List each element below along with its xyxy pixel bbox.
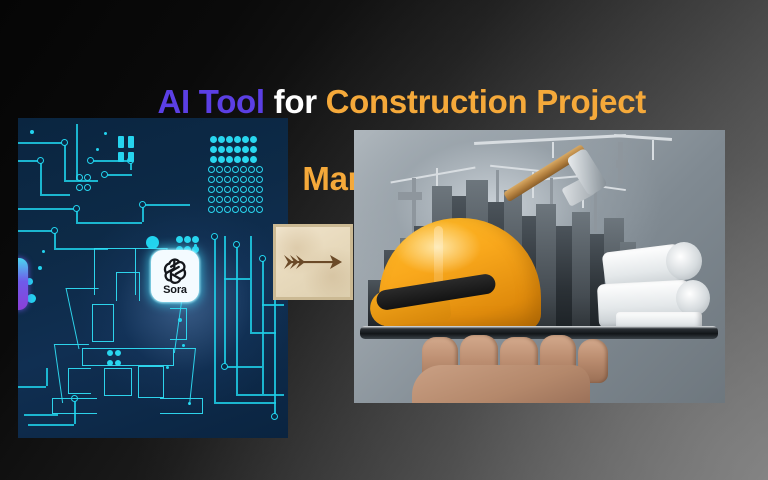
circuit-pad <box>51 227 58 234</box>
crane-cable <box>652 140 654 160</box>
arrow-right-icon <box>282 251 344 273</box>
circuit-trace <box>76 124 78 180</box>
palm <box>412 365 590 403</box>
circuit-pad <box>233 241 240 248</box>
circuit-trace <box>18 386 46 388</box>
arrow-transition-card <box>273 224 353 300</box>
circuit-trace <box>262 258 264 394</box>
poster-canvas: AI Tool for Construction Project Managem… <box>0 0 768 480</box>
crane-counter-jib <box>614 134 672 141</box>
circuit-trace <box>214 402 276 404</box>
title-ai-tool: AI Tool <box>158 83 265 120</box>
circuit-block <box>118 136 124 148</box>
crane-cabin <box>398 192 422 200</box>
circuit-trace <box>28 424 74 426</box>
circuit-trace <box>224 236 226 366</box>
sora-label: Sora <box>163 285 187 296</box>
circuit-block <box>128 136 134 148</box>
circuit-dot <box>38 266 42 270</box>
construction-tablet-image <box>354 130 725 403</box>
circuit-dot-matrix <box>76 174 89 191</box>
circuit-trace <box>214 236 216 402</box>
circuit-trace <box>18 230 54 232</box>
circuit-dot <box>42 250 45 253</box>
circuit-pad <box>211 233 218 240</box>
circuit-pad <box>271 413 278 420</box>
circuit-dot <box>96 148 99 151</box>
circuit-pad <box>101 171 108 178</box>
circuit-trace <box>142 204 190 206</box>
circuit-trace <box>46 368 48 386</box>
crane-jib <box>474 134 626 144</box>
circuit-pad <box>37 157 44 164</box>
circuit-trace <box>236 244 238 394</box>
openai-knot-icon <box>161 256 189 284</box>
circuit-pad <box>73 205 80 212</box>
circuit-trace <box>236 394 284 396</box>
circuit-trace <box>250 332 276 334</box>
circuit-trace <box>64 142 66 180</box>
hand <box>412 335 634 403</box>
crane-mast <box>594 188 597 232</box>
circuit-block <box>128 152 134 162</box>
crane-cable <box>552 142 554 158</box>
title-for: for <box>265 83 326 120</box>
circuit-trace <box>90 160 130 162</box>
circuit-trace <box>224 366 262 368</box>
circuit-pad <box>87 157 94 164</box>
circuit-pad <box>221 363 228 370</box>
crane-cabin <box>616 160 626 168</box>
circuit-trace <box>40 194 70 196</box>
circuit-pad <box>259 255 266 262</box>
circuit-block <box>118 152 124 162</box>
circuit-board-ai-image: Sora x <box>18 118 288 438</box>
blueprint-roll-end <box>676 280 710 316</box>
crane-jib <box>390 167 475 184</box>
circuit-dot <box>30 130 34 134</box>
circuit-trace <box>18 142 64 144</box>
circuit-trace <box>18 208 76 210</box>
circuit-trace <box>224 278 250 280</box>
circuit-trace <box>250 236 252 332</box>
circuit-trace <box>104 174 132 176</box>
title-construction-project: Construction Project <box>326 83 646 120</box>
circuit-trace <box>24 414 58 416</box>
circuit-dot-matrix <box>208 166 261 213</box>
circuit-trace <box>76 222 142 224</box>
sora-app-icon[interactable]: Sora <box>151 250 199 302</box>
circuit-dot <box>27 294 36 303</box>
circuit-pad <box>61 139 68 146</box>
circuit-trace <box>262 304 284 306</box>
circuit-trace <box>40 160 42 194</box>
building <box>556 226 572 332</box>
building <box>572 212 590 332</box>
circuit-pad <box>139 201 146 208</box>
circuit-dot <box>104 132 107 135</box>
circuit-dot-matrix <box>210 136 255 163</box>
blueprint-roll-end <box>666 242 702 280</box>
purple-side-tab[interactable]: x <box>18 258 28 310</box>
